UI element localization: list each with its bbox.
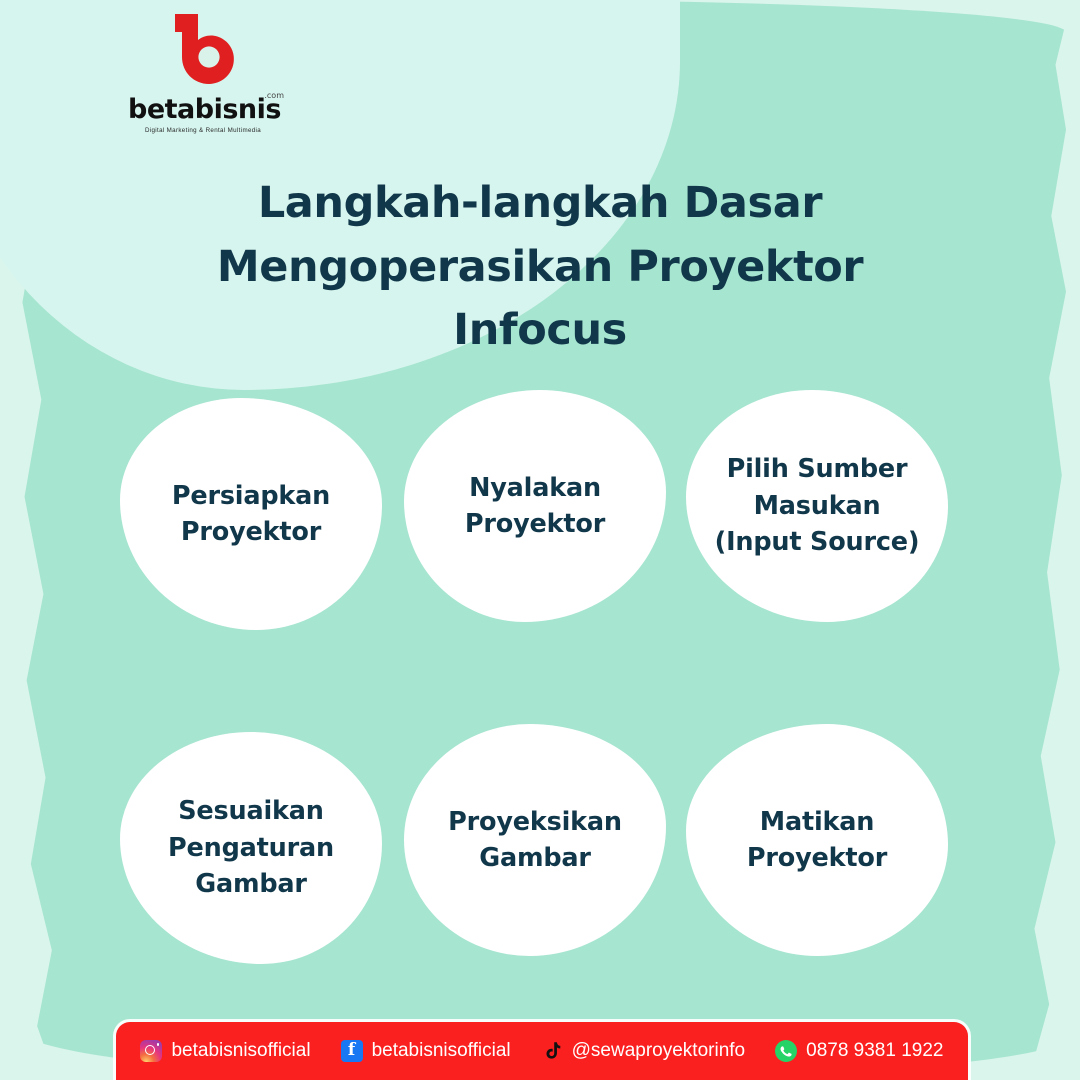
- brand-wordmark-text: betabisnis: [128, 94, 281, 125]
- step-card[interactable]: Matikan Proyektor: [686, 724, 948, 956]
- social-handle: @sewaproyektorinfo: [572, 1040, 745, 1062]
- social-facebook[interactable]: f betabisnisofficial: [341, 1040, 511, 1062]
- whatsapp-icon: [775, 1040, 797, 1062]
- step-card[interactable]: Pilih Sumber Masukan (Input Source): [686, 390, 948, 622]
- page-title: Langkah-langkah Dasar Mengoperasikan Pro…: [130, 172, 950, 363]
- social-handle: betabisnisofficial: [372, 1040, 511, 1062]
- step-card[interactable]: Proyeksikan Gambar: [404, 724, 666, 956]
- brand-wordmark: betabisnis .com: [128, 96, 278, 123]
- step-card[interactable]: Persiapkan Proyektor: [120, 398, 382, 630]
- tiktok-icon: [541, 1040, 563, 1062]
- social-tiktok[interactable]: @sewaproyektorinfo: [541, 1040, 745, 1062]
- step-card[interactable]: Nyalakan Proyektor: [404, 390, 666, 622]
- step-card-label: Persiapkan Proyektor: [142, 478, 360, 551]
- step-card-label: Pilih Sumber Masukan (Input Source): [708, 451, 926, 560]
- social-footer-bar: betabisnisofficial f betabisnisofficial …: [116, 1022, 968, 1080]
- brand-tld: .com: [264, 92, 284, 100]
- social-whatsapp[interactable]: 0878 9381 1922: [775, 1040, 943, 1062]
- step-card[interactable]: Sesuaikan Pengaturan Gambar: [120, 732, 382, 964]
- brand-logo: betabisnis .com Digital Marketing & Rent…: [128, 12, 278, 134]
- instagram-icon: [140, 1040, 162, 1062]
- step-card-label: Proyeksikan Gambar: [426, 804, 644, 877]
- step-card-label: Sesuaikan Pengaturan Gambar: [142, 793, 360, 902]
- social-handle: 0878 9381 1922: [806, 1040, 943, 1062]
- betabisnis-b-logo-icon: [161, 12, 245, 94]
- social-handle: betabisnisofficial: [171, 1040, 310, 1062]
- step-card-label: Nyalakan Proyektor: [426, 470, 644, 543]
- social-instagram[interactable]: betabisnisofficial: [140, 1040, 310, 1062]
- brand-tagline: Digital Marketing & Rental Multimedia: [128, 127, 278, 134]
- facebook-icon: f: [341, 1040, 363, 1062]
- step-card-label: Matikan Proyektor: [708, 804, 926, 877]
- infographic-poster: betabisnis .com Digital Marketing & Rent…: [0, 0, 1080, 1080]
- steps-grid: Persiapkan Proyektor Nyalakan Proyektor …: [112, 390, 972, 970]
